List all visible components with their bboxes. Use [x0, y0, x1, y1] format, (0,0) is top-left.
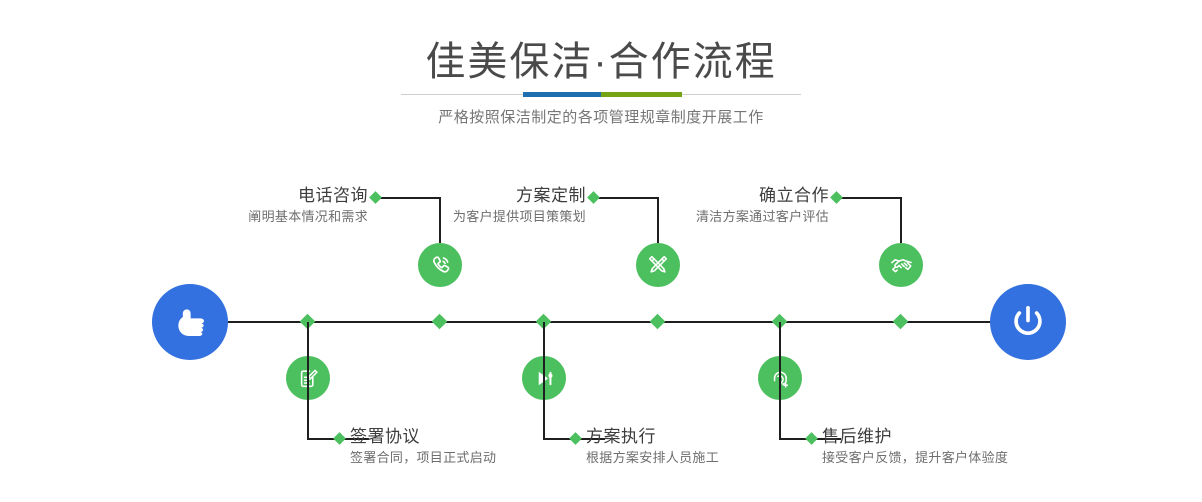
connector-stem	[779, 322, 781, 439]
step-node-establish-cooperation[interactable]	[879, 243, 923, 287]
step-label-after-sales-maintenance: 售后维护 接受客户反馈，提升客户体验度	[822, 426, 1092, 468]
infographic-canvas: 佳美保洁·合作流程 严格按照保洁制定的各项管理规章制度开展工作	[0, 0, 1202, 502]
connector-arm	[839, 197, 901, 199]
timeline-marker	[432, 314, 448, 330]
timeline-marker	[893, 314, 909, 330]
phone-call-icon	[427, 252, 453, 278]
step-label-sign-agreement: 签署协议 签署合同，项目正式启动	[350, 426, 610, 468]
step-desc: 阐明基本情况和需求	[150, 207, 368, 227]
pen-pencil-icon	[645, 252, 671, 278]
step-desc: 清洁方案通过客户评估	[611, 207, 829, 227]
connector-tip	[830, 191, 843, 204]
step-desc: 为客户提供项目策策划	[368, 207, 586, 227]
flow-start-endpoint	[152, 284, 228, 360]
step-label-phone-consultation: 电话咨询 阐明基本情况和需求	[150, 185, 368, 227]
connector-tip	[587, 191, 600, 204]
step-label-plan-execution: 方案执行 根据方案安排人员施工	[586, 426, 846, 468]
flow-end-endpoint	[990, 284, 1066, 360]
step-title: 售后维护	[822, 426, 1092, 448]
power-icon	[1006, 300, 1050, 344]
step-node-phone-consultation[interactable]	[418, 243, 462, 287]
step-label-establish-cooperation: 确立合作 清洁方案通过客户评估	[611, 185, 829, 227]
step-label-plan-customization: 方案定制 为客户提供项目策策划	[368, 185, 586, 227]
connector-stem	[900, 197, 902, 243]
step-title: 电话咨询	[150, 185, 368, 207]
step-title: 确立合作	[611, 185, 829, 207]
step-title: 方案定制	[368, 185, 586, 207]
step-node-plan-customization[interactable]	[636, 243, 680, 287]
connector-stem	[543, 322, 545, 439]
step-desc: 签署合同，项目正式启动	[350, 448, 610, 468]
handshake-icon	[888, 252, 915, 279]
step-desc: 接受客户反馈，提升客户体验度	[822, 448, 1092, 468]
timeline-marker	[650, 314, 666, 330]
process-flow: 电话咨询 阐明基本情况和需求 签署协议 签署合同，项目正式启动	[0, 0, 1202, 502]
step-desc: 根据方案安排人员施工	[586, 448, 846, 468]
connector-tip	[333, 432, 346, 445]
pointing-hand-icon	[169, 301, 211, 343]
connector-stem	[307, 322, 309, 439]
